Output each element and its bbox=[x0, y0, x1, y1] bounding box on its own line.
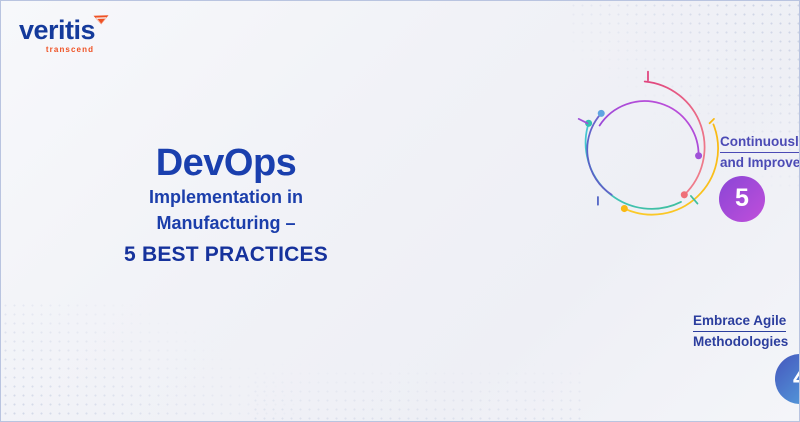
practices-diagram: {...} </> 1 2 3 4 5 Define Clear Goals B… bbox=[351, 21, 791, 416]
label-practice-4: Embrace Agile Methodologies bbox=[693, 311, 788, 351]
veritis-chevron-mark-icon bbox=[93, 15, 109, 25]
badge-number-4: 4 bbox=[793, 366, 800, 391]
label-practice-5: Continuously Monitor and Improve bbox=[720, 132, 800, 172]
headline-line-4: 5 BEST PRACTICES bbox=[101, 239, 351, 272]
infographic-canvas: veritis transcend DevOps Implementation … bbox=[0, 0, 800, 422]
headline-line-1: DevOps bbox=[101, 144, 351, 184]
headline-line-2: Implementation in bbox=[101, 184, 351, 210]
dot-pattern-bottom-left bbox=[1, 301, 301, 421]
veritis-logo[interactable]: veritis transcend bbox=[19, 17, 95, 54]
badge-practice-5[interactable]: 5 bbox=[719, 176, 765, 222]
label-practice-5-line2: and Improve bbox=[720, 153, 800, 172]
label-practice-4-line1: Embrace Agile bbox=[693, 311, 786, 332]
label-practice-5-line1: Continuously Monitor bbox=[720, 132, 800, 153]
page-title: DevOps Implementation in Manufacturing –… bbox=[101, 144, 351, 272]
arc-end-dots bbox=[585, 110, 702, 212]
label-practice-4-line2: Methodologies bbox=[693, 332, 788, 351]
logo-tagline: transcend bbox=[19, 45, 94, 54]
badge-practice-4[interactable]: 4 bbox=[775, 354, 800, 404]
badge-number-5: 5 bbox=[735, 186, 749, 211]
logo-wordmark: veritis bbox=[19, 17, 95, 44]
headline-line-3: Manufacturing – bbox=[101, 210, 351, 236]
